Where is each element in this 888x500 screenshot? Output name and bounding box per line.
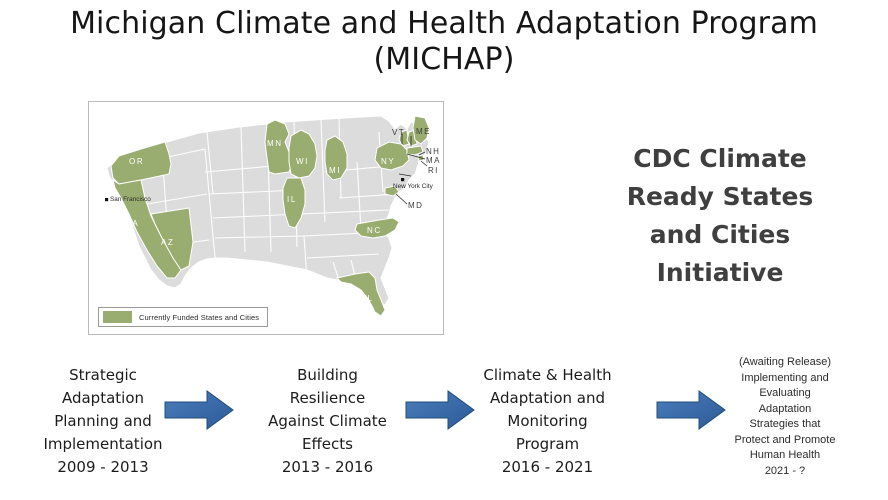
map-label-wi: WI	[296, 157, 309, 166]
phase-4-years: 2021 - ?	[695, 464, 875, 480]
map-label-ma: MA	[426, 156, 441, 165]
cdc-heading-line-1: CDC Climate	[560, 140, 880, 178]
cdc-heading-line-4: Initiative	[560, 254, 880, 292]
phase-1-line-1: Strategic	[8, 364, 198, 387]
map-label-new-york-city: New York City	[393, 183, 434, 190]
timeline-phase-3: Climate & Health Adaptation and Monitori…	[455, 352, 640, 479]
phase-3-years: 2016 - 2021	[455, 456, 640, 479]
page-title-line-1: Michigan Climate and Health Adaptation P…	[70, 6, 818, 41]
slide-canvas: Michigan Climate and Health Adaptation P…	[0, 0, 888, 500]
page-title-line-2: (MICHAP)	[0, 42, 888, 78]
map-label-md: MD	[408, 201, 423, 210]
phase-2-line-3: Against Climate	[240, 410, 415, 433]
map-label-vt: VT	[392, 128, 405, 137]
legend-swatch-funded	[103, 311, 132, 323]
program-timeline: Strategic Adaptation Planning and Implem…	[0, 352, 888, 500]
san-francisco-marker	[105, 198, 108, 201]
map-label-me: ME	[416, 127, 431, 136]
map-label-ca: CA	[125, 219, 139, 228]
phase-2-line-4: Effects	[240, 433, 415, 456]
timeline-phase-2: Building Resilience Against Climate Effe…	[240, 352, 415, 479]
map-label-fl: FL	[361, 294, 374, 303]
page-title: Michigan Climate and Health Adaptation P…	[0, 6, 888, 78]
us-funding-map: OR CA AZ MN WI MI IL NC FL NY VT ME NH M…	[88, 101, 444, 335]
phase-2-line-1: Building	[240, 364, 415, 387]
phase-4-line-1: (Awaiting Release)	[695, 355, 875, 371]
cdc-heading-line-2: Ready States	[560, 178, 880, 216]
map-label-or: OR	[129, 157, 144, 166]
legend-label-funded: Currently Funded States and Cities	[139, 313, 259, 322]
phase-3-line-3: Monitoring	[455, 410, 640, 433]
map-label-mi: MI	[329, 166, 341, 175]
cdc-initiative-heading: CDC Climate Ready States and Cities Init…	[560, 140, 880, 292]
timeline-arrow-1	[163, 388, 235, 432]
map-label-ri: RI	[428, 166, 439, 175]
map-label-nc: NC	[367, 226, 382, 235]
map-label-mn: MN	[267, 139, 283, 148]
phase-4-line-7: Human Health	[695, 448, 875, 464]
us-map-svg: OR CA AZ MN WI MI IL NC FL NY VT ME NH M…	[89, 102, 443, 334]
map-label-nh: NH	[426, 147, 440, 156]
map-label-san-francisco: San Francisco	[110, 196, 151, 203]
phase-1-years: 2009 - 2013	[8, 456, 198, 479]
phase-4-line-2: Implementing and	[695, 371, 875, 387]
map-label-az: AZ	[161, 238, 174, 247]
phase-4-line-5: Strategies that	[695, 417, 875, 433]
phase-3-line-1: Climate & Health	[455, 364, 640, 387]
map-legend: Currently Funded States and Cities	[98, 307, 268, 327]
map-label-il: IL	[287, 195, 297, 204]
map-label-ny: NY	[381, 157, 395, 166]
phase-4-line-4: Adaptation	[695, 402, 875, 418]
new-york-city-marker	[401, 178, 404, 181]
phase-1-line-4: Implementation	[8, 433, 198, 456]
phase-3-line-4: Program	[455, 433, 640, 456]
phase-3-line-2: Adaptation and	[455, 387, 640, 410]
cdc-heading-line-3: and Cities	[560, 216, 880, 254]
phase-2-years: 2013 - 2016	[240, 456, 415, 479]
phase-2-line-2: Resilience	[240, 387, 415, 410]
phase-4-line-3: Evaluating	[695, 386, 875, 402]
phase-4-line-6: Protect and Promote	[695, 433, 875, 449]
timeline-phase-4: (Awaiting Release) Implementing and Eval…	[695, 352, 875, 479]
